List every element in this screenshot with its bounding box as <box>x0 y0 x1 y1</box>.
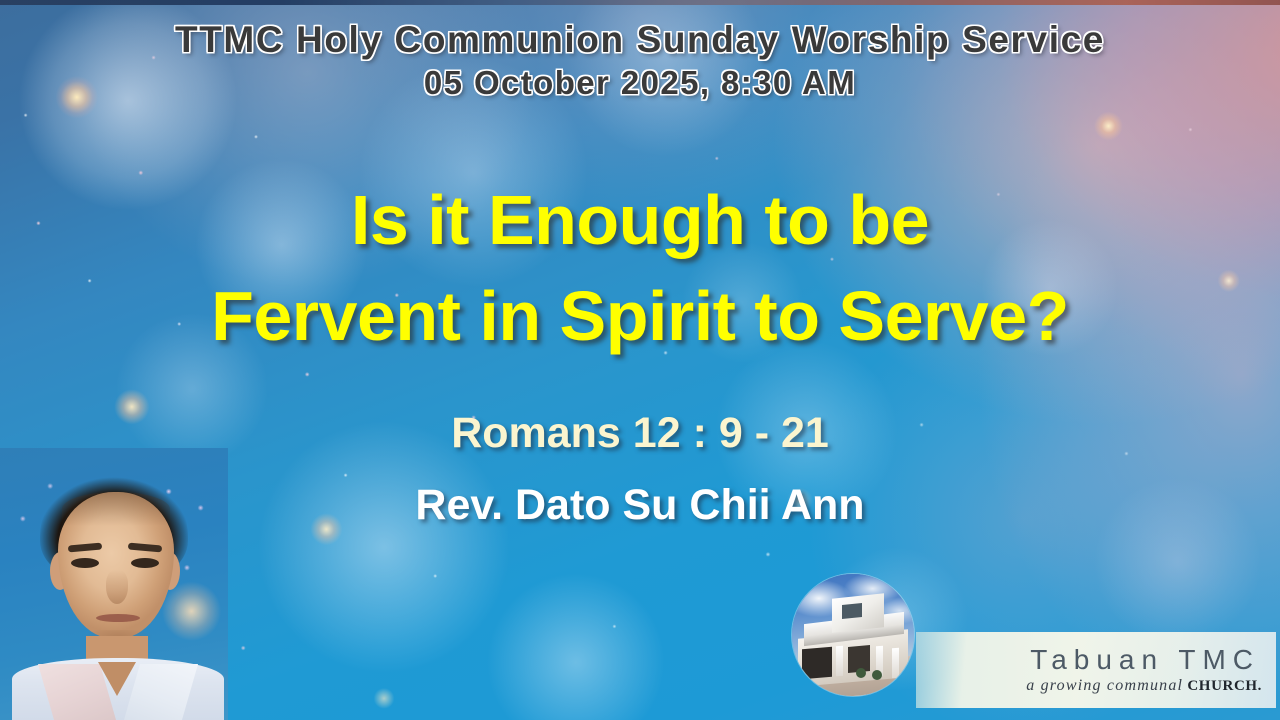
logo-building-entrance <box>802 647 832 680</box>
logo-building-column-3 <box>892 648 899 679</box>
church-logo: Tabuan TMC a growing communal CHURCH. <box>776 564 1276 716</box>
worship-service-slide: TTMC Holy Communion Sunday Worship Servi… <box>0 0 1280 720</box>
sermon-title-line-2: Fervent in Spirit to Serve? <box>0 268 1280 364</box>
scripture-reference: Romans 12 : 9 - 21 <box>0 404 1280 462</box>
logo-church-name: Tabuan TMC <box>1030 644 1262 676</box>
portrait-eye-left <box>71 558 99 568</box>
sermon-meta: Romans 12 : 9 - 21 Rev. Dato Su Chii Ann <box>0 404 1280 534</box>
service-header: TTMC Holy Communion Sunday Worship Servi… <box>0 18 1280 104</box>
portrait-nose <box>106 570 128 604</box>
logo-building-column-1 <box>836 646 843 677</box>
logo-tagline: a growing communal CHURCH. <box>1026 676 1262 696</box>
church-building-photo <box>792 574 914 696</box>
service-datetime-line: 05 October 2025, 8:30 AM <box>0 62 1280 104</box>
sermon-title-line-1: Is it Enough to be <box>0 172 1280 268</box>
top-edge-strip <box>0 0 1280 5</box>
logo-tagline-bold: CHURCH. <box>1187 678 1262 694</box>
speaker-name: Rev. Dato Su Chii Ann <box>0 476 1280 534</box>
portrait-mouth <box>96 614 140 622</box>
logo-building-upper-window <box>842 603 862 619</box>
logo-name-banner: Tabuan TMC a growing communal CHURCH. <box>916 632 1276 708</box>
logo-tagline-italic: a growing communal <box>1026 677 1183 694</box>
portrait-eye-right <box>131 558 159 568</box>
logo-plant-1 <box>856 668 866 678</box>
logo-plant-2 <box>872 670 882 680</box>
sermon-title: Is it Enough to be Fervent in Spirit to … <box>0 172 1280 364</box>
service-title-line: TTMC Holy Communion Sunday Worship Servi… <box>0 18 1280 62</box>
